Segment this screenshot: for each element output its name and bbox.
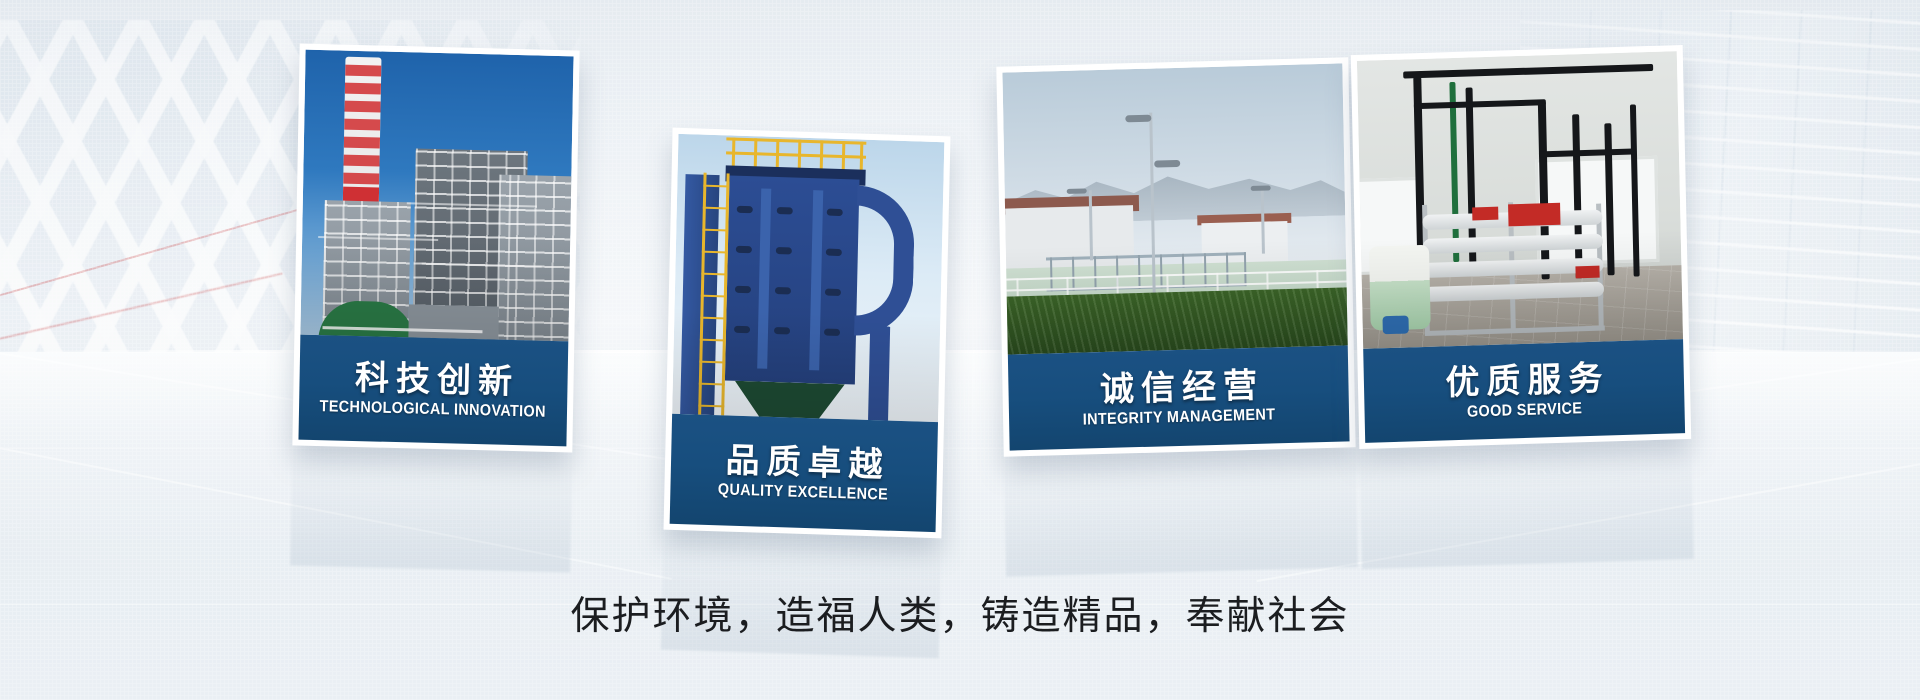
value-panel-technological-innovation[interactable]: 科技创新 TECHNOLOGICAL INNOVATION (292, 43, 579, 452)
panel-caption-technological-innovation: 科技创新 TECHNOLOGICAL INNOVATION (298, 335, 568, 447)
panel-title-en: INTEGRITY MANAGEMENT (1083, 406, 1276, 429)
panel-reflection (1004, 447, 1358, 576)
panel-reflection (1359, 439, 1693, 569)
panel-title-cn: 诚信经营 (1093, 368, 1265, 409)
value-panel-quality-excellence[interactable]: 品质卓越 QUALITY EXCELLENCE (664, 128, 951, 539)
value-panel-good-service[interactable]: 优质服务 GOOD SERVICE (1351, 45, 1691, 449)
panel-reflection (290, 445, 572, 572)
panel-title-cn: 品质卓越 (718, 442, 890, 484)
panel-caption-quality-excellence: 品质卓越 QUALITY EXCELLENCE (670, 414, 938, 532)
value-panel-integrity-management[interactable]: 诚信经营 INTEGRITY MANAGEMENT (996, 57, 1355, 456)
panel-title-cn: 科技创新 (348, 360, 520, 401)
panel-title-en: QUALITY EXCELLENCE (718, 481, 889, 504)
panel-photo-wastewater-plant (1002, 63, 1347, 354)
panel-title-en: TECHNOLOGICAL INNOVATION (320, 398, 546, 421)
panel-caption-integrity-management: 诚信经营 INTEGRITY MANAGEMENT (1008, 345, 1350, 450)
panel-title-cn: 优质服务 (1438, 360, 1610, 402)
banner-stage: 科技创新 TECHNOLOGICAL INNOVATION (0, 0, 1920, 700)
panel-photo-dust-collector (672, 134, 944, 422)
panel-title-en: GOOD SERVICE (1467, 400, 1583, 421)
panel-photo-stack-towers (300, 50, 573, 342)
banner-tagline: 保护环境，造福人类，铸造精品，奉献社会 (0, 585, 1920, 641)
panel-caption-good-service: 优质服务 GOOD SERVICE (1363, 339, 1685, 443)
panel-photo-ro-membrane-skid (1357, 51, 1683, 349)
